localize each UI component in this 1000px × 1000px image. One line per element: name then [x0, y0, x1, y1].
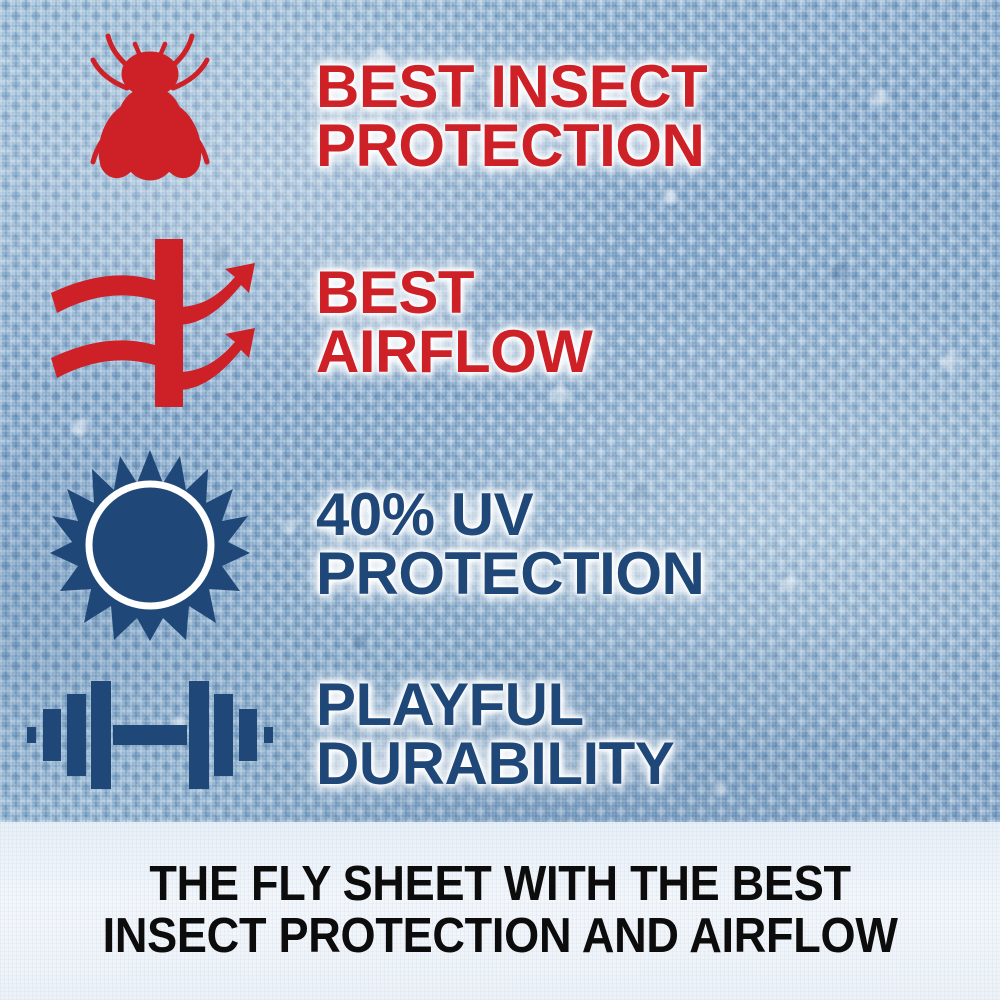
fly-insect-icon	[75, 30, 225, 205]
feature-icon-cell	[0, 30, 300, 205]
feature-row-durability: PLAYFUL DURABILITY	[0, 650, 1000, 820]
sun-uv-icon	[50, 448, 250, 643]
product-tagline: THE FLY SHEET WITH THE BEST INSECT PROTE…	[102, 859, 897, 963]
feature-label-cell: BEST AIRFLOW	[300, 264, 1000, 382]
feature-label-cell: 40% UV PROTECTION	[300, 486, 1000, 604]
feature-label-insect-protection: BEST INSECT PROTECTION	[316, 58, 1000, 176]
feature-label-cell: BEST INSECT PROTECTION	[300, 58, 1000, 176]
feature-row-uv-protection: 40% UV PROTECTION	[0, 440, 1000, 650]
caption-band: THE FLY SHEET WITH THE BEST INSECT PROTE…	[0, 822, 1000, 1000]
feature-label-durability: PLAYFUL DURABILITY	[316, 676, 1000, 794]
feature-label-cell: PLAYFUL DURABILITY	[300, 676, 1000, 794]
feature-list: BEST INSECT PROTECTION	[0, 0, 1000, 822]
feature-row-airflow: BEST AIRFLOW	[0, 228, 1000, 418]
feature-icon-cell	[0, 675, 300, 795]
airflow-arrows-icon	[43, 233, 258, 413]
feature-icon-cell	[0, 448, 300, 643]
feature-label-uv-protection: 40% UV PROTECTION	[316, 486, 1000, 604]
dumbbell-icon	[25, 675, 275, 795]
feature-label-airflow: BEST AIRFLOW	[316, 264, 1000, 382]
product-feature-infographic: BEST INSECT PROTECTION	[0, 0, 1000, 1000]
feature-icon-cell	[0, 233, 300, 413]
feature-row-insect-protection: BEST INSECT PROTECTION	[0, 22, 1000, 212]
